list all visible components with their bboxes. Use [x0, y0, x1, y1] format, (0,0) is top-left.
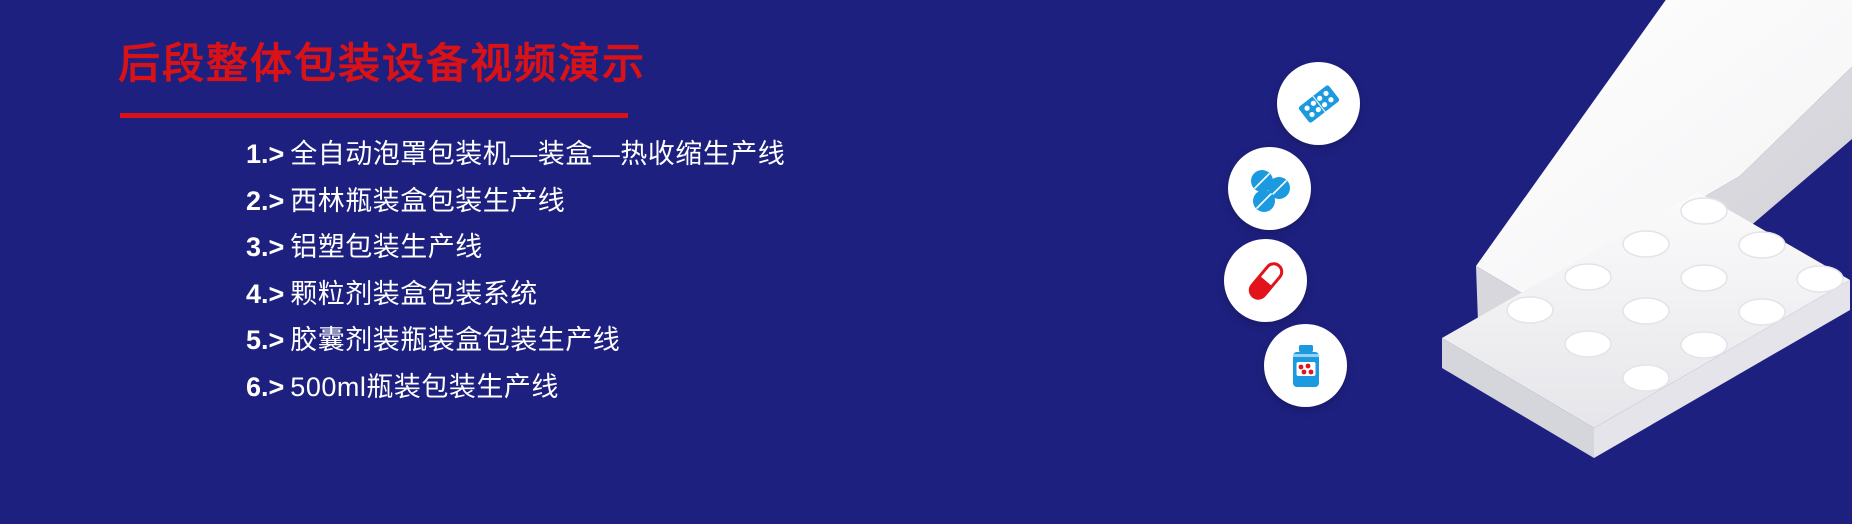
list-item-label: 全自动泡罩包装机—装盒—热收缩生产线 — [290, 139, 785, 169]
medicine-bottle-badge — [1264, 324, 1347, 407]
page-title: 后段整体包装设备视频演示 — [118, 40, 646, 88]
list-item-index: 1.> — [246, 139, 284, 169]
list-item-index: 3.> — [246, 232, 284, 262]
promo-banner: 后段整体包装设备视频演示 1.>全自动泡罩包装机—装盒—热收缩生产线 2.>西林… — [0, 0, 1852, 524]
list-item[interactable]: 2.>西林瓶装盒包装生产线 — [246, 178, 785, 225]
capsule-icon — [1239, 254, 1293, 308]
isometric-blister-pack-carton-illustration — [1380, 0, 1852, 524]
blister-pack-badge — [1277, 62, 1360, 145]
list-item-label: 西林瓶装盒包装生产线 — [290, 186, 565, 216]
package-illustration-svg — [1380, 0, 1852, 524]
list-item[interactable]: 4.>颗粒剂装盒包装系统 — [246, 271, 785, 318]
capsule-badge — [1224, 239, 1307, 322]
list-item-label: 500ml瓶装包装生产线 — [290, 372, 559, 402]
list-item-index: 4.> — [246, 279, 284, 309]
title-underline-divider — [120, 113, 628, 118]
list-item[interactable]: 5.>胶囊剂装瓶装盒包装生产线 — [246, 317, 785, 364]
list-item[interactable]: 1.>全自动泡罩包装机—装盒—热收缩生产线 — [246, 131, 785, 178]
list-item-index: 2.> — [246, 186, 284, 216]
list-item[interactable]: 6.>500ml瓶装包装生产线 — [246, 364, 785, 411]
blister-pack-icon — [1291, 76, 1347, 132]
list-item[interactable]: 3.>铝塑包装生产线 — [246, 224, 785, 271]
list-item-label: 铝塑包装生产线 — [290, 232, 483, 262]
video-list: 1.>全自动泡罩包装机—装盒—热收缩生产线 2.>西林瓶装盒包装生产线 3.>铝… — [246, 131, 785, 410]
pills-badge — [1228, 147, 1311, 230]
list-item-index: 5.> — [246, 325, 284, 355]
list-item-label: 颗粒剂装盒包装系统 — [290, 279, 538, 309]
list-item-label: 胶囊剂装瓶装盒包装生产线 — [290, 325, 620, 355]
pills-icon — [1243, 162, 1297, 216]
list-item-index: 6.> — [246, 372, 284, 402]
medicine-bottle-icon — [1280, 340, 1332, 392]
